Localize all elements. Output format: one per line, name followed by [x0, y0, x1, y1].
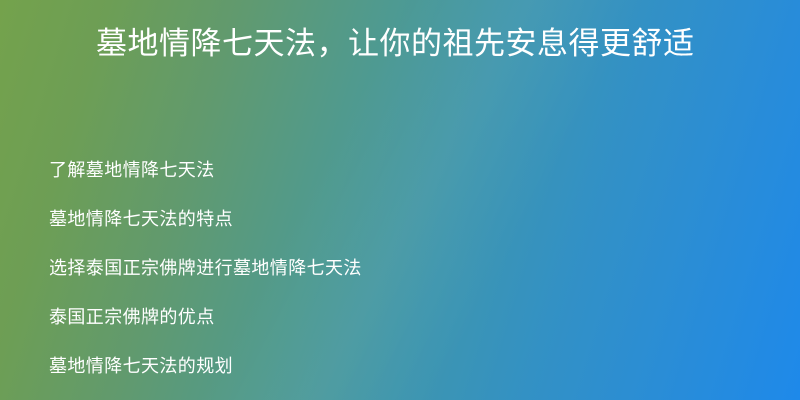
table-of-contents: 了解墓地情降七天法 墓地情降七天法的特点 选择泰国正宗佛牌进行墓地情降七天法 泰…: [49, 146, 362, 391]
poster-canvas: 墓地情降七天法，让你的祖先安息得更舒适 了解墓地情降七天法 墓地情降七天法的特点…: [0, 0, 800, 400]
list-item: 泰国正宗佛牌的优点: [49, 293, 362, 342]
list-item: 墓地情降七天法的特点: [49, 195, 362, 244]
list-item: 选择泰国正宗佛牌进行墓地情降七天法: [49, 244, 362, 293]
list-item: 墓地情降七天法的规划: [49, 342, 362, 391]
list-item: 了解墓地情降七天法: [49, 146, 362, 195]
page-title: 墓地情降七天法，让你的祖先安息得更舒适: [0, 14, 800, 74]
